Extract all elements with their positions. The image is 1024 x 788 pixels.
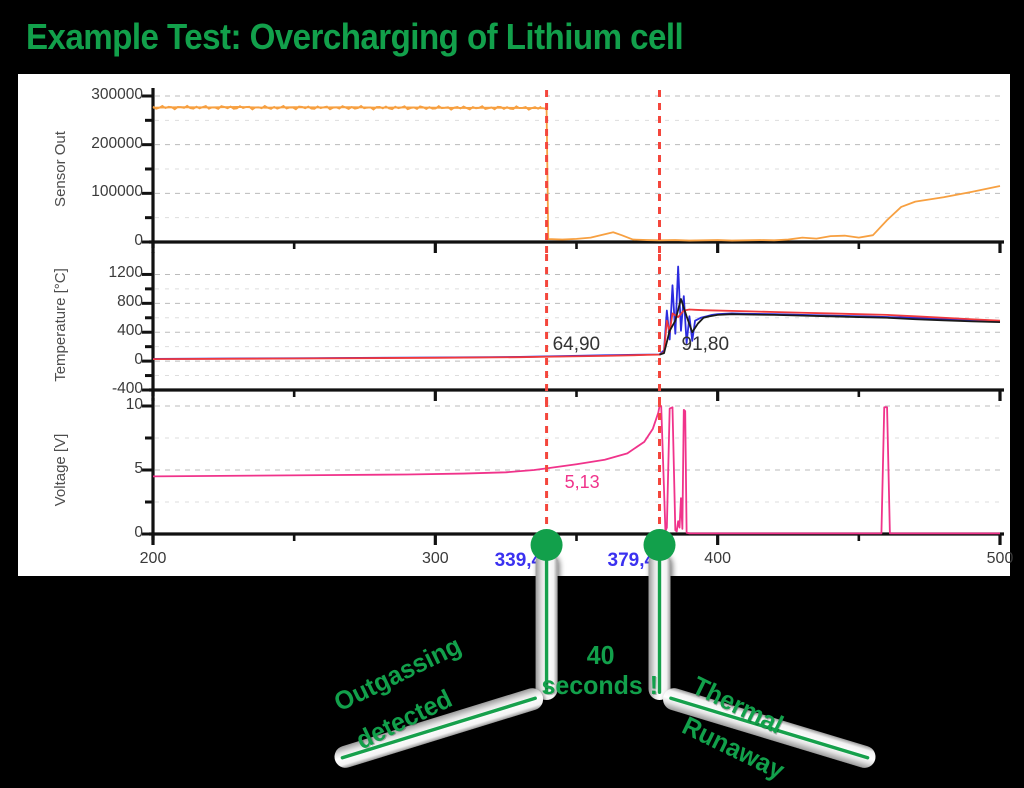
- chart-area: 0100000200000300000Sensor Out-4000400800…: [18, 74, 1010, 576]
- temp-annotation-event2: 91,80: [682, 334, 730, 356]
- x-annotation-event2: 379,4: [608, 550, 656, 572]
- page-title: Example Test: Overcharging of Lithium ce…: [26, 16, 683, 58]
- temp-annotation-event1: 64,90: [553, 334, 601, 356]
- callout-center-line1: 40: [543, 642, 658, 669]
- x-annotation-event1: 339,4: [495, 550, 543, 572]
- screenshot-root: Example Test: Overcharging of Lithium ce…: [0, 0, 1024, 788]
- multi-panel-plot: [18, 74, 1010, 576]
- chart-panel: 0100000200000300000Sensor Out-4000400800…: [18, 74, 1010, 576]
- voltage-annotation-event1: 5,13: [565, 472, 600, 493]
- y-axis-label-sensor-out: Sensor Out: [52, 96, 69, 242]
- x-tick-label: 500: [960, 550, 1024, 568]
- x-tick-label: 300: [395, 550, 475, 568]
- y-axis-label-voltage: Voltage [V]: [52, 406, 69, 534]
- x-tick-label: 200: [113, 550, 193, 568]
- y-axis-label-temperature: Temperature [°C]: [52, 260, 69, 390]
- callout-center-line2: seconds !: [523, 672, 677, 699]
- x-tick-label: 400: [678, 550, 758, 568]
